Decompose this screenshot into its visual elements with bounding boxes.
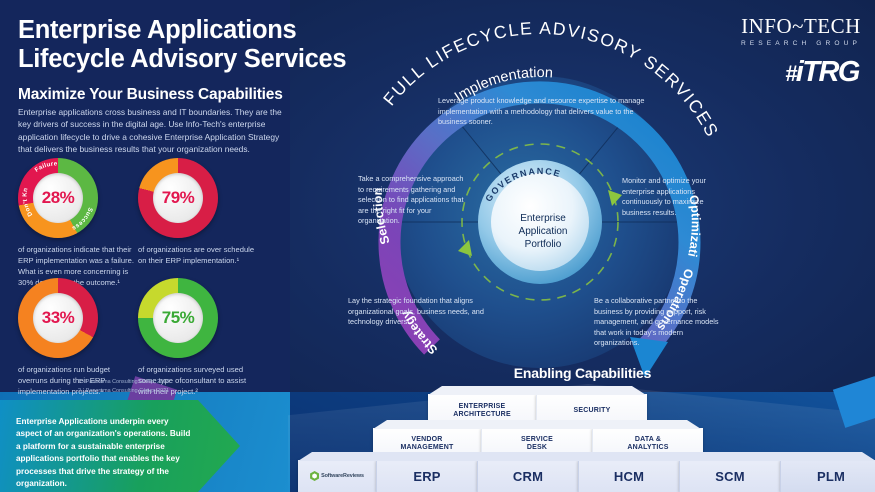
itrg-text: iTRG xyxy=(796,56,859,88)
app-crm[interactable]: CRM xyxy=(477,460,578,492)
footnote-1: 1 - Panorama Consulting Group, 2018 xyxy=(78,378,169,387)
donut-value-1: 79% xyxy=(138,158,218,238)
capability-label: DATA &ANALYTICS xyxy=(627,436,668,453)
page-subtitle: Maximize Your Business Capabilities xyxy=(18,86,298,104)
wedge-text-implementation: Leverage product knowledge and resource … xyxy=(438,96,648,128)
pyramid-tier-base-bevel xyxy=(298,452,875,461)
donut-chart-2: 33% xyxy=(18,278,98,358)
pyramid-tier-mid-bevel xyxy=(373,420,701,429)
app-label: ERP xyxy=(413,469,440,484)
enabling-capabilities-title: Enabling Capabilities xyxy=(290,365,875,381)
softwarereviews-logo: SoftwareReviews xyxy=(310,471,364,481)
footnote-2: 2 - Panorama Consulting Group, 2021 xyxy=(78,387,169,396)
donut-value-3: 75% xyxy=(138,278,218,358)
infographic-root: Enterprise Applications Lifecycle Adviso… xyxy=(0,0,875,492)
donut-value-2: 33% xyxy=(18,278,98,358)
wedge-text-optimization: Monitor and optimize your enterprise app… xyxy=(622,176,734,218)
app-label: SCM xyxy=(715,469,745,484)
pyramid-tier-base: SoftwareReviews ERP CRM HCM SCM PLM xyxy=(298,460,875,492)
donut-chart-1: 79% xyxy=(138,158,218,238)
base-softwarereviews-cell: SoftwareReviews xyxy=(298,460,376,492)
stat-card-1: 79% of organizations are over schedule o… xyxy=(138,158,258,266)
softwarereviews-label: SoftwareReviews xyxy=(321,473,364,479)
intro-paragraph: Enterprise applications cross business a… xyxy=(18,106,294,156)
donut-chart-0: 28% Success Don't Know Failure xyxy=(18,158,98,238)
callout-text: Enterprise Applications underpin every a… xyxy=(16,416,196,491)
capability-label: VENDORMANAGEMENT xyxy=(401,436,454,453)
stat-card-0: 28% Success Don't Know Failure of organi… xyxy=(18,158,138,288)
donut-chart-3: 75% xyxy=(138,278,218,358)
center-label-l1: Enterprise xyxy=(498,212,588,225)
capability-label: ENTERPRISEARCHITECTURE xyxy=(453,403,511,420)
wedge-text-operations: Be a collaborative partner to the busine… xyxy=(594,296,726,349)
app-erp[interactable]: ERP xyxy=(376,460,477,492)
center-label-l2: Application xyxy=(498,225,588,238)
capability-label: SERVICEDESK xyxy=(521,436,553,453)
wheel-center-label: Enterprise Application Portfolio xyxy=(498,212,588,252)
app-label: HCM xyxy=(614,469,644,484)
app-plm[interactable]: PLM xyxy=(780,460,875,492)
app-hcm[interactable]: HCM xyxy=(578,460,679,492)
app-label: PLM xyxy=(817,469,845,484)
center-label-l3: Portfolio xyxy=(498,238,588,251)
app-label: CRM xyxy=(513,469,543,484)
capability-label: SECURITY xyxy=(574,407,611,415)
stat-caption-1: of organizations are over schedule on th… xyxy=(138,244,260,266)
app-scm[interactable]: SCM xyxy=(679,460,780,492)
pyramid-tier-top-bevel xyxy=(428,386,646,395)
itrg-logo: #iTRG xyxy=(785,56,859,89)
wedge-text-strategy: Lay the strategic foundation that aligns… xyxy=(348,296,500,328)
footnotes: 1 - Panorama Consulting Group, 2018 2 - … xyxy=(78,378,169,395)
wedge-text-selection: Take a comprehensive approach to require… xyxy=(358,174,466,227)
hexagon-icon xyxy=(310,471,319,481)
donut-value-0: 28% xyxy=(18,158,98,238)
